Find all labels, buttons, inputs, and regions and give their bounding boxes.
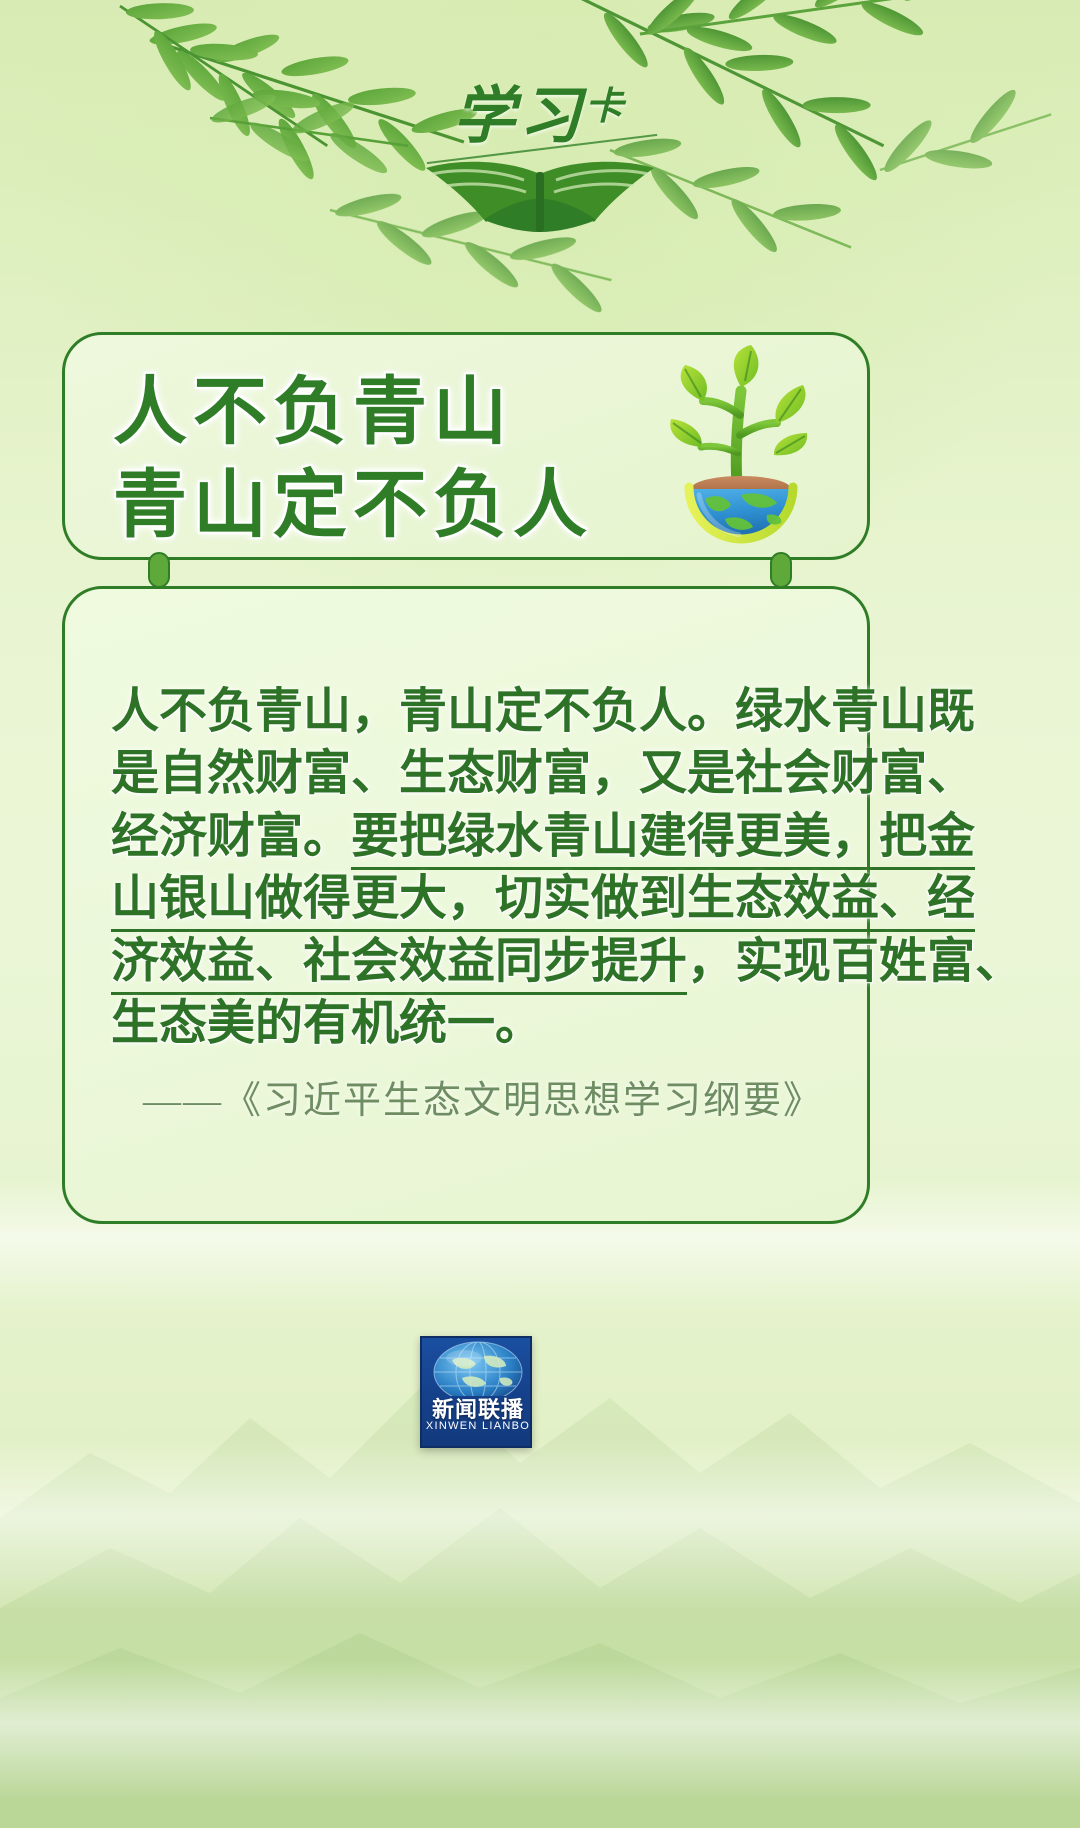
quote-line-1: 人不负青山，青山定不负人。绿水青山既	[111, 681, 827, 743]
logo-title: 学习卡	[390, 86, 690, 148]
quote-line-5-plain: ，实现百姓富、	[687, 935, 1023, 988]
sapling-in-globe-bowl-icon	[641, 343, 841, 555]
quote-body: 人不负青山，青山定不负人。绿水青山既 是自然财富、生态财富，又是社会财富、 经济…	[111, 681, 827, 1055]
logo-title-suffix: 卡	[585, 86, 627, 128]
quote-line-3: 经济财富。要把绿水青山建得更美，把金	[111, 806, 827, 868]
quote-line-4: 山银山做得更大，切实做到生态效益、经	[111, 868, 827, 930]
quote-line-3-plain: 经济财富。	[111, 810, 351, 863]
open-book-icon	[408, 152, 672, 236]
title-card: 人不负青山 青山定不负人	[62, 332, 870, 560]
xinwen-lianbo-badge: 新闻联播 XINWEN LIANBO	[420, 1336, 532, 1448]
title-line-2: 青山定不负人	[113, 458, 673, 551]
header-logo: 学习卡	[0, 86, 1080, 246]
title-line-1: 人不负青山	[113, 365, 673, 458]
badge-label-en: XINWEN LIANBO	[422, 1420, 532, 1432]
card-connector-right	[770, 552, 792, 588]
quote-line-4-underlined: 山银山做得更大，切实做到生态效益、经	[111, 872, 975, 932]
quote-line-5: 济效益、社会效益同步提升，实现百姓富、	[111, 931, 827, 993]
quote-line-2: 是自然财富、生态财富，又是社会财富、	[111, 743, 827, 805]
quote-line-5-underlined: 济效益、社会效益同步提升	[111, 935, 687, 995]
quote-attribution: ——《习近平生态文明思想学习纲要》	[111, 1069, 823, 1124]
quote-line-6: 生态美的有机统一。	[111, 993, 827, 1055]
page-title: 人不负青山 青山定不负人	[113, 365, 673, 551]
globe-icon	[422, 1338, 532, 1396]
body-card: 人不负青山，青山定不负人。绿水青山既 是自然财富、生态财富，又是社会财富、 经济…	[62, 586, 870, 1224]
logo-title-main: 学习	[453, 83, 585, 151]
card-connector-left	[148, 552, 170, 588]
quote-line-3-underlined: 要把绿水青山建得更美，把金	[351, 810, 975, 870]
